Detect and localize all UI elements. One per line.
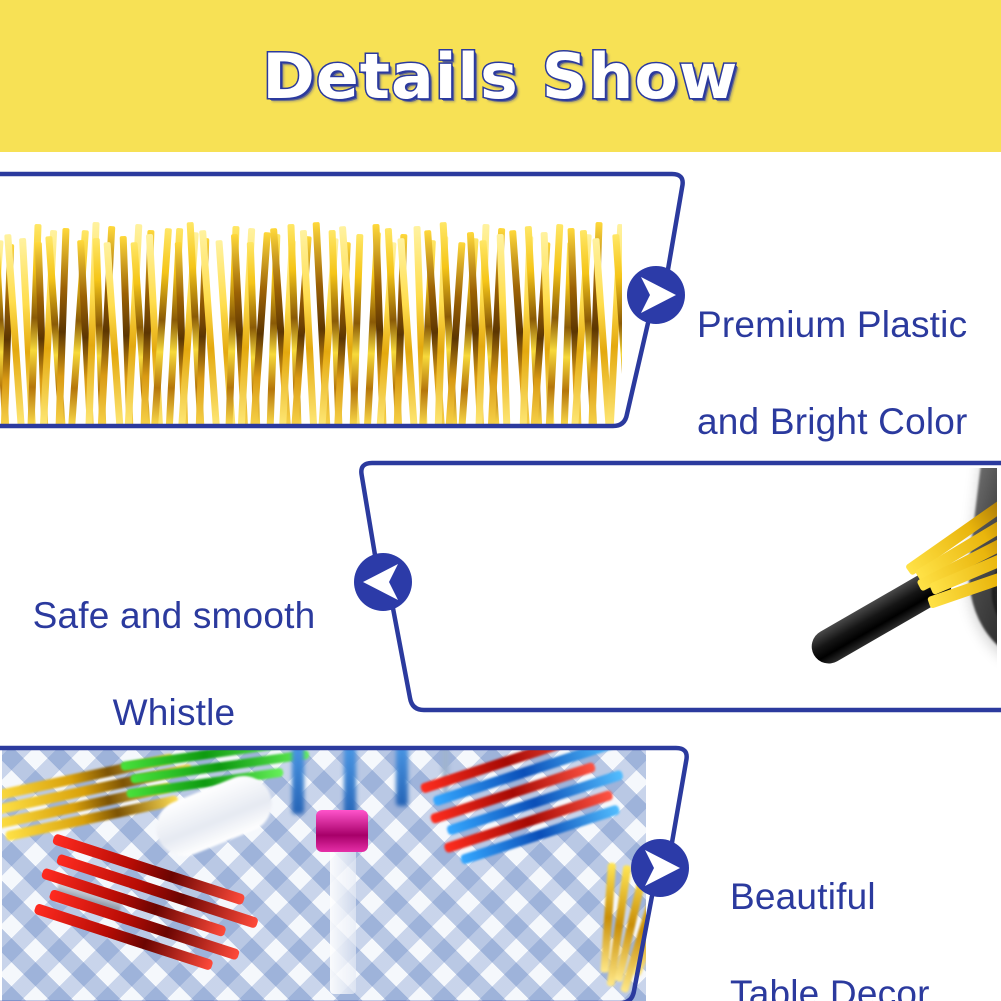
infographic-page: Details Show — [0, 0, 1001, 1001]
panel-premium-plastic: Premium Plastic and Bright Color — [0, 152, 1001, 450]
chevron-right-icon[interactable] — [631, 839, 689, 897]
panel-safe-whistle: Safe and smooth Whistle — [0, 450, 1001, 740]
chevron-right-icon[interactable] — [627, 266, 685, 324]
panel-table-decor: Beautiful Table Decor — [0, 740, 1001, 1001]
chevron-left-icon[interactable] — [354, 553, 412, 611]
callout-text-3: Beautiful Table Decor — [730, 824, 992, 1001]
callout-line-2: and Bright Color — [697, 398, 997, 447]
callout-line-1: Premium Plastic — [697, 301, 997, 350]
callout-line-2: Table Decor — [730, 970, 992, 1001]
header-banner: Details Show — [0, 0, 1001, 152]
callout-line-1: Safe and smooth — [18, 592, 330, 641]
callout-line-1: Beautiful — [730, 873, 992, 922]
callout-line-2: Whistle — [18, 689, 330, 738]
page-title: Details Show — [263, 40, 739, 113]
